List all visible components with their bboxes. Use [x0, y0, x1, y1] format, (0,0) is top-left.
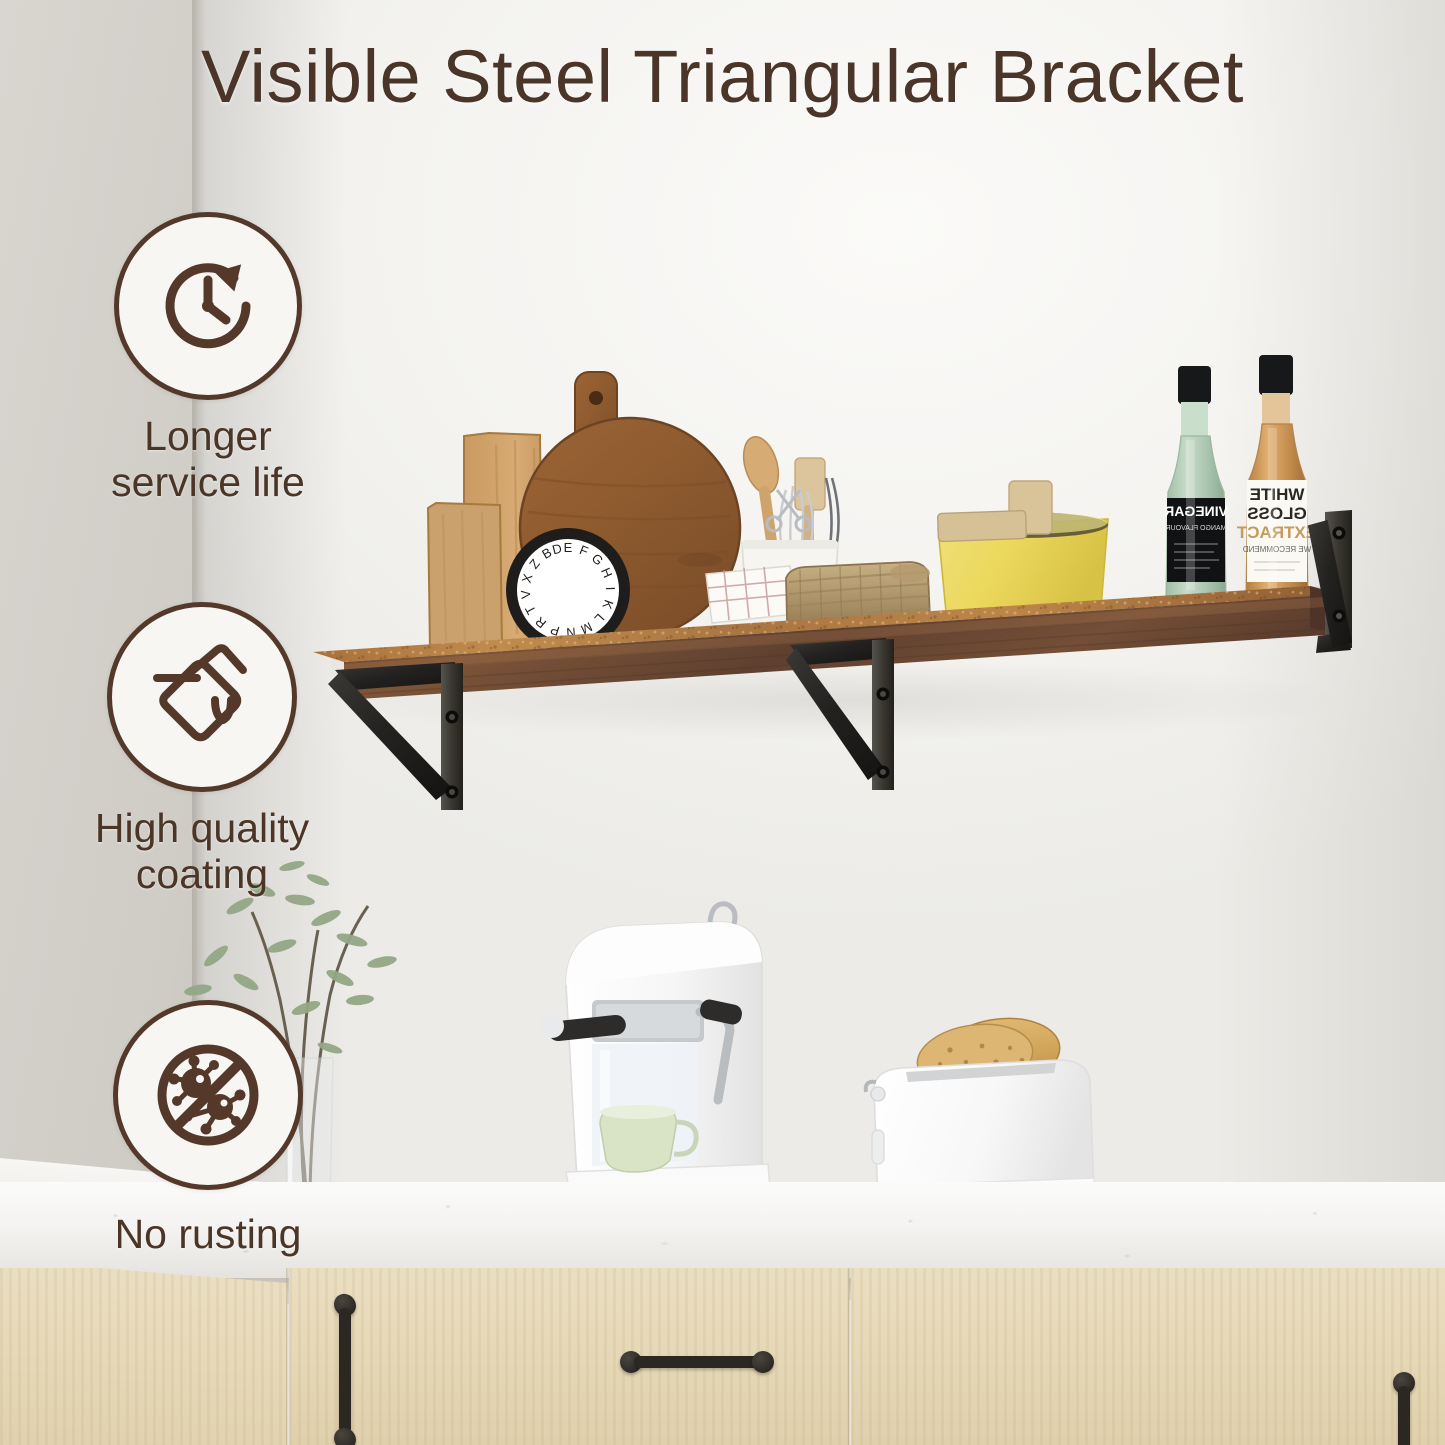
no-germ-prohibition-icon [113, 1000, 303, 1190]
page-title: Visible Steel Triangular Bracket [0, 38, 1445, 116]
cabinet-door-right[interactable] [851, 1268, 1445, 1445]
feature-label-line2: service life [111, 459, 305, 505]
kitchen-towel [706, 566, 795, 623]
cutting-board-rectangular-front [428, 503, 502, 650]
feature-label-line1: Longer [144, 413, 272, 459]
feature-label-line1: High quality [95, 805, 309, 851]
cabinet-door-left[interactable] [0, 1268, 287, 1445]
product-image-canvas: E F G H I K L M N P R T V X Z B D [0, 0, 1445, 1445]
handle-knob [752, 1351, 774, 1373]
svg-text:VINEGAR: VINEGAR [1164, 503, 1228, 519]
feature-longer-service-life: Longer service life [58, 212, 358, 506]
handle-bar [339, 1307, 351, 1434]
yellow-bowl [938, 481, 1108, 614]
svg-text:MANGO FLAVOUR: MANGO FLAVOUR [1166, 525, 1227, 532]
feature-label: High quality coating [52, 806, 352, 898]
svg-text:I: I [603, 586, 618, 590]
feature-no-rusting: No rusting [58, 1000, 358, 1258]
feature-label: Longer service life [58, 414, 358, 506]
vinegar-bottle: VINEGAR MANGO FLAVOUR [1164, 366, 1228, 611]
extract-bottle: WHITE GLOSS EXTRACT WE RECOMMEND [1236, 355, 1317, 613]
handle-bar [634, 1356, 762, 1368]
feature-label: No rusting [58, 1212, 358, 1258]
feature-label-line2: coating [136, 851, 268, 897]
feature-high-quality-coating: High quality coating [52, 602, 352, 898]
cabinet-seam-1 [286, 1268, 290, 1445]
clock-arrow-icon [114, 212, 302, 400]
cabinet-seam-2 [848, 1268, 852, 1445]
handle-bar [1398, 1386, 1410, 1445]
svg-text:E: E [564, 540, 573, 555]
paint-bucket-icon [107, 602, 297, 792]
